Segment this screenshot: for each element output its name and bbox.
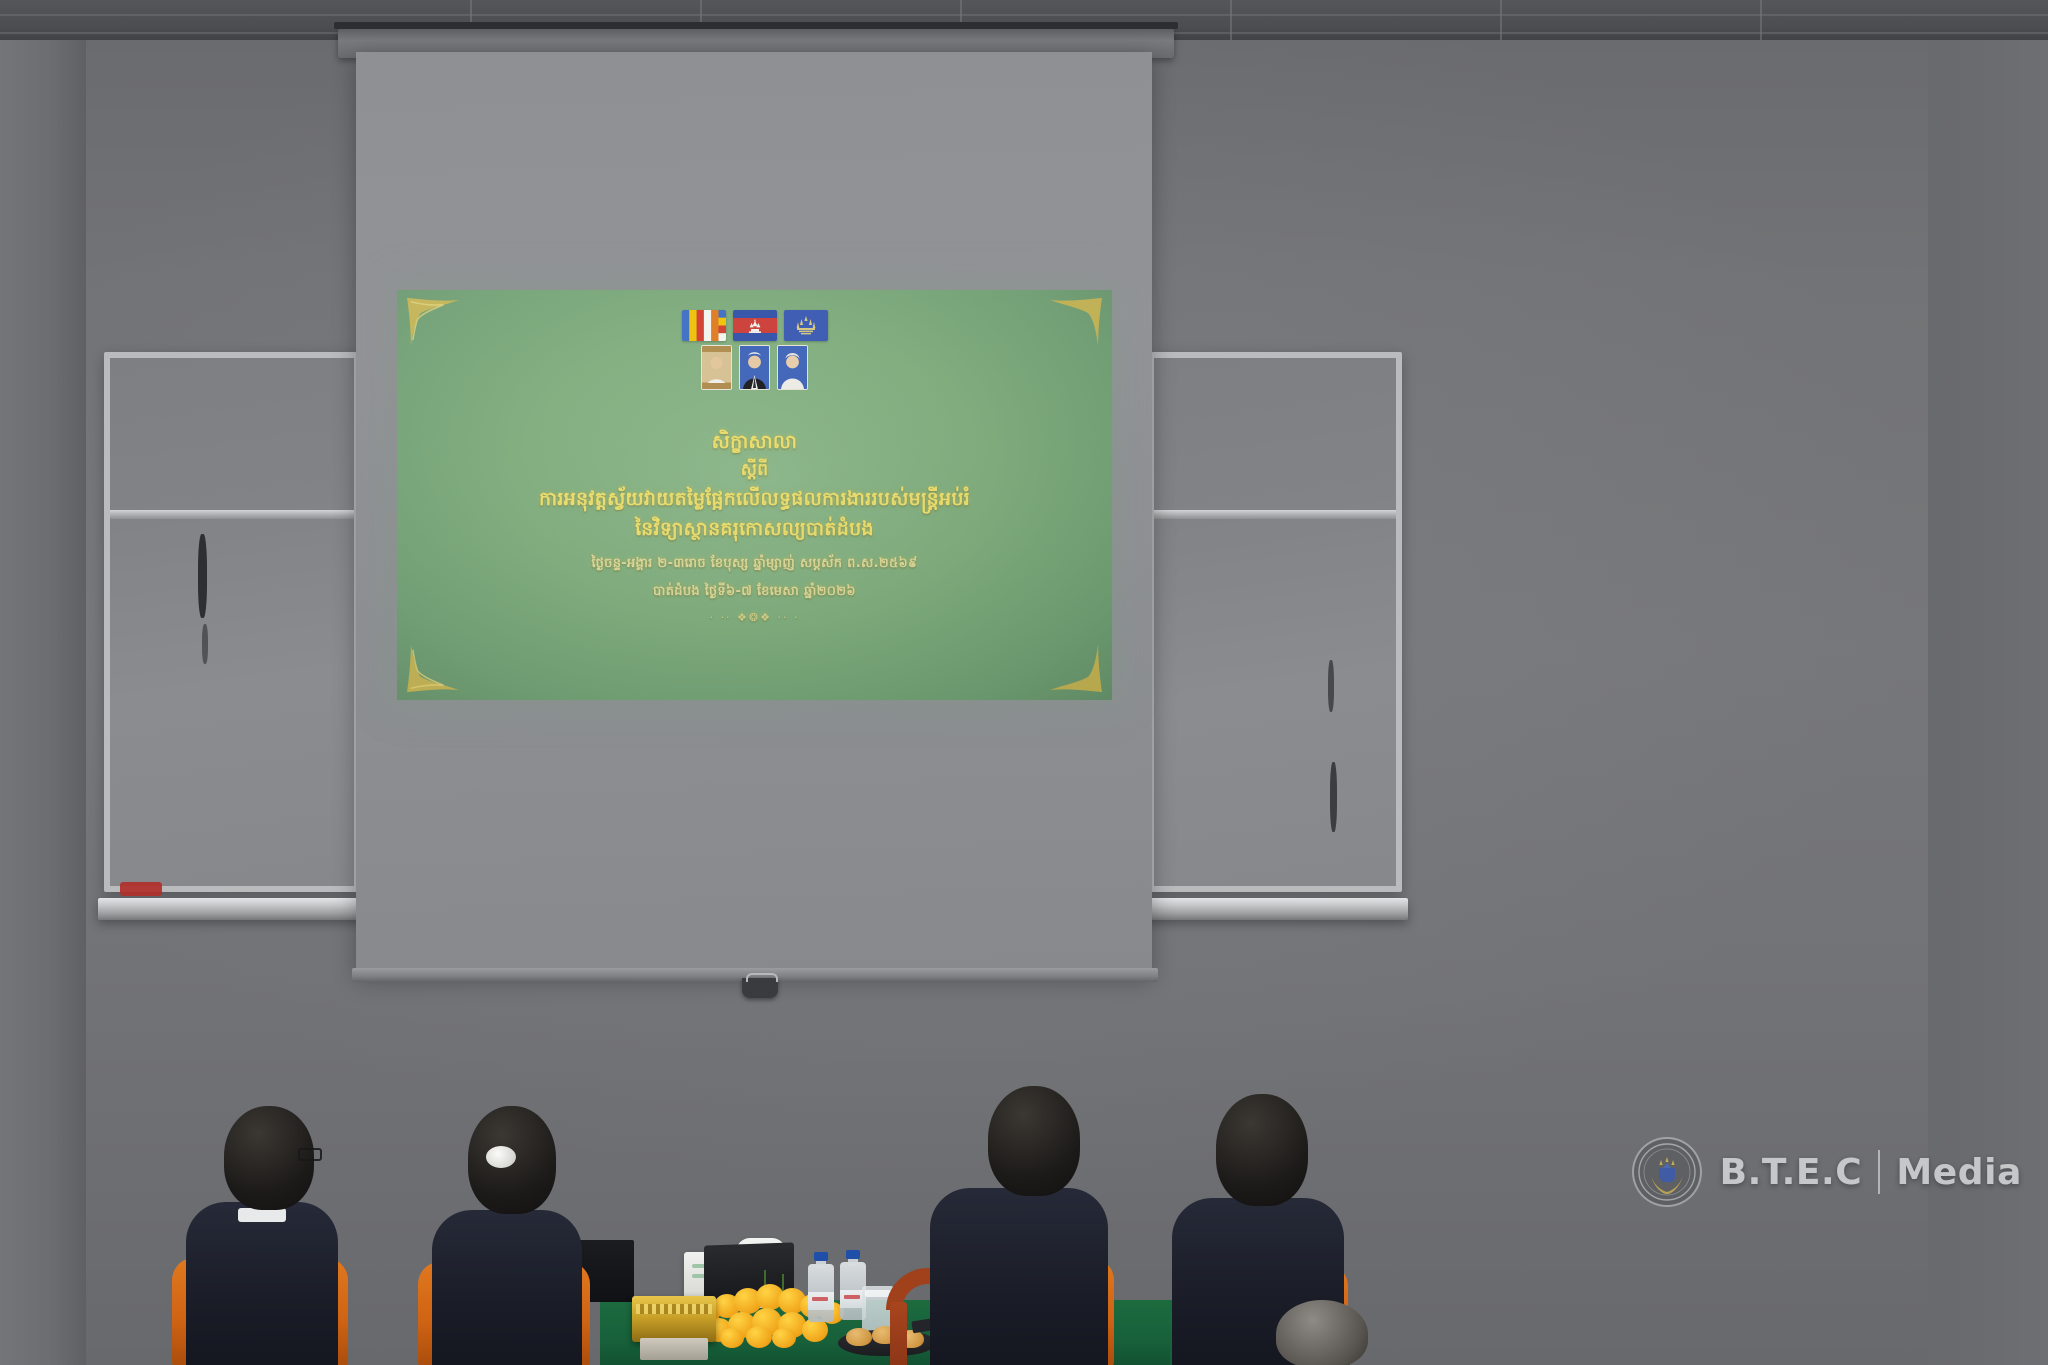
whiteboard-right — [1148, 352, 1402, 892]
whiteboard-right-rail — [1154, 510, 1396, 519]
red-marker — [120, 882, 162, 896]
gold-box-base — [640, 1338, 708, 1360]
slide-emblem-block — [397, 310, 1112, 390]
watermark-text: B.T.E.C Media — [1720, 1150, 2022, 1194]
slide-title-line2: នៃវិទ្យាស្ថានគរុកោសល្យបាត់ដំបង — [397, 518, 1112, 540]
cambodia-flag-icon — [733, 310, 777, 341]
whiteboard-left-rail — [110, 510, 354, 519]
watermark-suffix: Media — [1896, 1152, 2022, 1193]
whiteboard-left — [104, 352, 360, 892]
screen-pull-handle[interactable] — [742, 978, 778, 998]
slide-heading: សិក្ខាសាលា — [397, 431, 1112, 453]
slide-title-line1: ការអនុវត្តស្វ័យវាយតម្លៃផ្អែកលើលទ្ធផលការង… — [397, 488, 1112, 510]
portrait-queen-mother-icon — [777, 345, 808, 390]
flag-row — [682, 310, 828, 341]
gold-offering-box — [632, 1296, 716, 1342]
portrait-row — [701, 345, 808, 390]
watermark-brand: B.T.E.C — [1720, 1152, 1863, 1193]
slide-subheading: ស្តីពី — [397, 460, 1112, 480]
presentation-slide: សិក្ខាសាលា ស្តីពី ការអនុវត្តស្វ័យវាយតម្ល… — [397, 290, 1112, 700]
btec-seal-icon — [1632, 1137, 1702, 1207]
slide-divider-glyph: · ·· ❖❂❖ ·· · — [397, 612, 1112, 625]
wall-left-column — [0, 40, 86, 1365]
corner-ornament-icon — [1046, 642, 1104, 694]
portrait-monk-icon — [701, 345, 732, 390]
water-bottle — [808, 1252, 834, 1322]
watermark-divider — [1878, 1150, 1880, 1194]
royal-standard-flag-icon — [784, 310, 828, 341]
watermark: B.T.E.C Media — [1632, 1137, 2022, 1207]
corner-ornament-icon — [405, 642, 463, 694]
buddhist-flag-icon — [682, 310, 726, 341]
slide-date-line2: បាត់ដំបង ថ្ងៃទី៦-៧ ខែមេសា ឆ្នាំ២០២៦ — [397, 584, 1112, 599]
screenshot-root: សិក្ខាសាលា ស្តីពី ការអនុវត្តស្វ័យវាយតម្ល… — [0, 0, 2048, 1365]
slide-date-line1: ថ្ងៃចន្ទ-អង្គារ ២-៣រោច ខែបុស្ស ឆ្នាំម្សា… — [397, 556, 1112, 571]
portrait-king-father-icon — [739, 345, 770, 390]
